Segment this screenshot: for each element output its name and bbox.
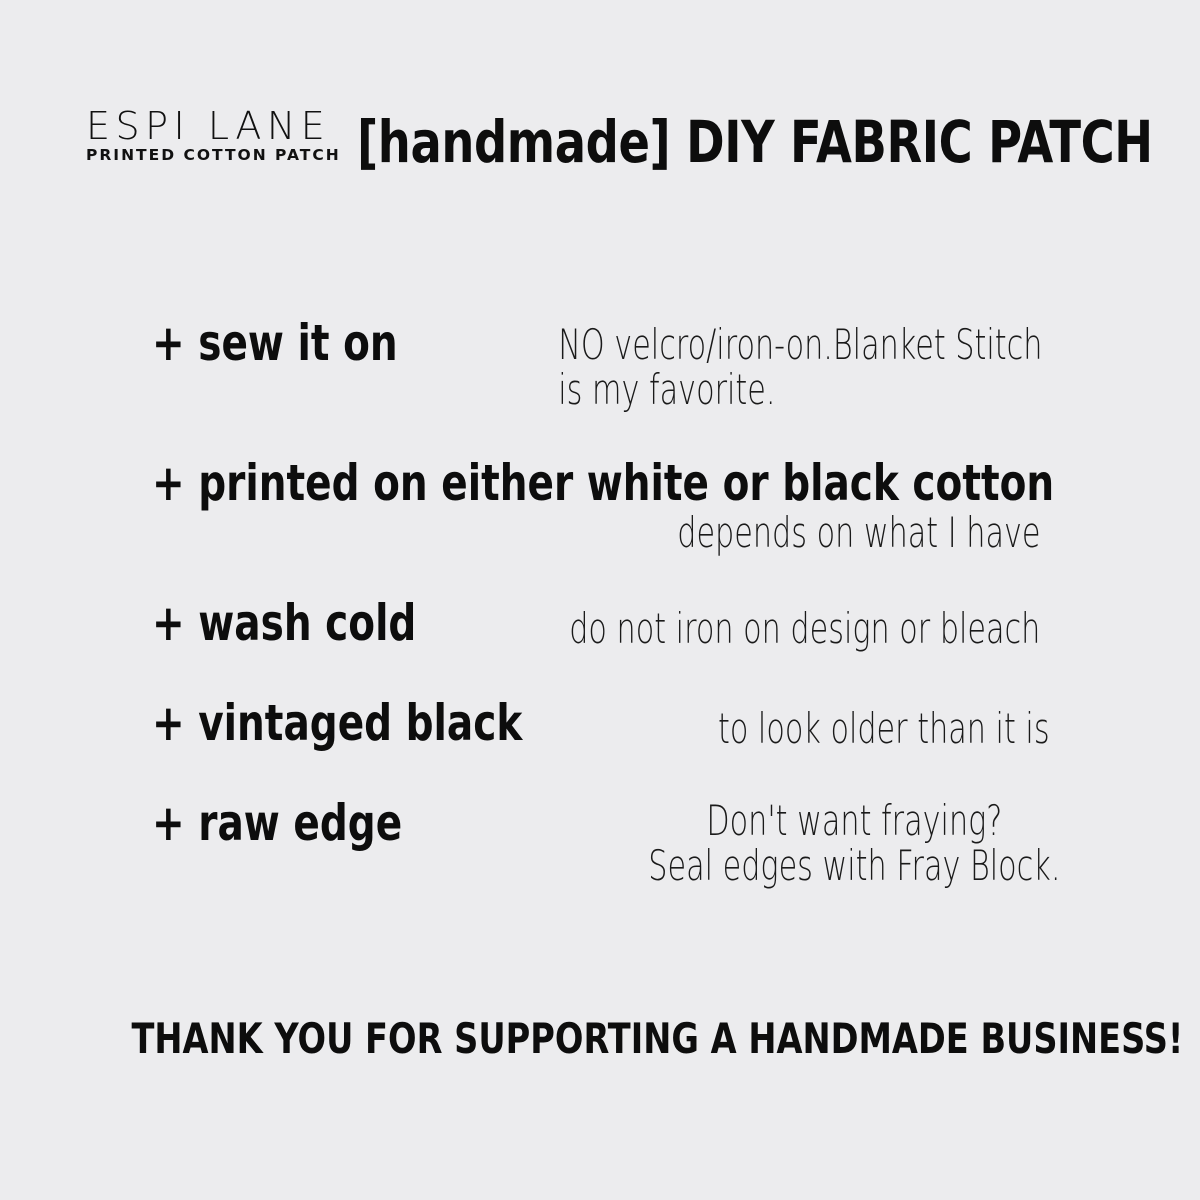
feature-description-wash-cold: do not iron on design or bleach	[569, 606, 1040, 651]
feature-heading-wash-cold: + wash cold	[152, 598, 416, 648]
card-header: ESPI LANE PRINTED COTTON PATCH [handmade…	[86, 108, 1146, 171]
patch-care-card: ESPI LANE PRINTED COTTON PATCH [handmade…	[0, 0, 1200, 1200]
page-title: [handmade] DIY FABRIC PATCH	[357, 113, 1153, 171]
brand-lockup: ESPI LANE PRINTED COTTON PATCH	[86, 108, 341, 171]
feature-description-vintaged-black: to look older than it is	[718, 706, 1050, 751]
feature-heading-printed-cotton: + printed on either white or black cotto…	[152, 458, 1054, 508]
feature-description-printed-cotton: depends on what I have	[677, 510, 1040, 555]
feature-description-raw-edge: Don't want fraying? Seal edges with Fray…	[648, 798, 1060, 889]
feature-description-sew-it-on: NO velcro/iron-on.Blanket Stitch is my f…	[558, 322, 1042, 413]
feature-heading-vintaged-black: + vintaged black	[152, 698, 522, 748]
brand-subtitle: PRINTED COTTON PATCH	[86, 144, 341, 167]
brand-name: ESPI LANE	[86, 108, 341, 144]
feature-heading-sew-it-on: + sew it on	[152, 318, 398, 368]
footer-thank-you-text: THANK YOU FOR SUPPORTING A HANDMADE BUSI…	[131, 1018, 1183, 1060]
feature-heading-raw-edge: + raw edge	[152, 798, 402, 848]
card-footer: THANK YOU FOR SUPPORTING A HANDMADE BUSI…	[0, 1018, 1200, 1060]
